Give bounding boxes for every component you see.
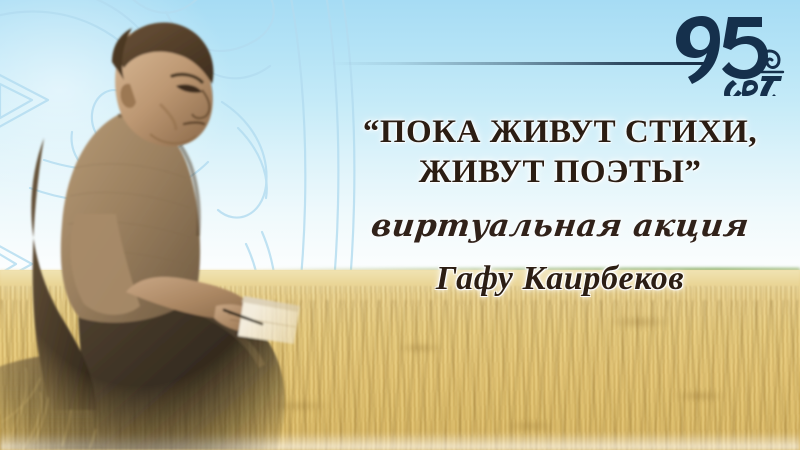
poster-title: “ПОКА ЖИВУТ СТИХИ, ЖИВУТ ПОЭТЫ” [330,112,790,192]
anniversary-95-logo [666,6,786,96]
poster-image: “ПОКА ЖИВУТ СТИХИ, ЖИВУТ ПОЭТЫ” виртуаль… [0,0,800,450]
poster-author-name: Гафу Каирбеков [330,259,790,299]
poster-title-line2: ЖИВУТ ПОЭТЫ” [330,152,790,192]
sky-left-highlight [0,0,330,276]
wheat-grain-shading [0,286,800,450]
poster-subtitle: виртуальная акция [328,208,792,244]
field-bottom-haze [0,432,800,450]
logo-accent-line [330,62,708,65]
poster-title-line1: “ПОКА ЖИВУТ СТИХИ, [363,114,757,150]
poster-text-block: “ПОКА ЖИВУТ СТИХИ, ЖИВУТ ПОЭТЫ” виртуаль… [330,112,790,299]
